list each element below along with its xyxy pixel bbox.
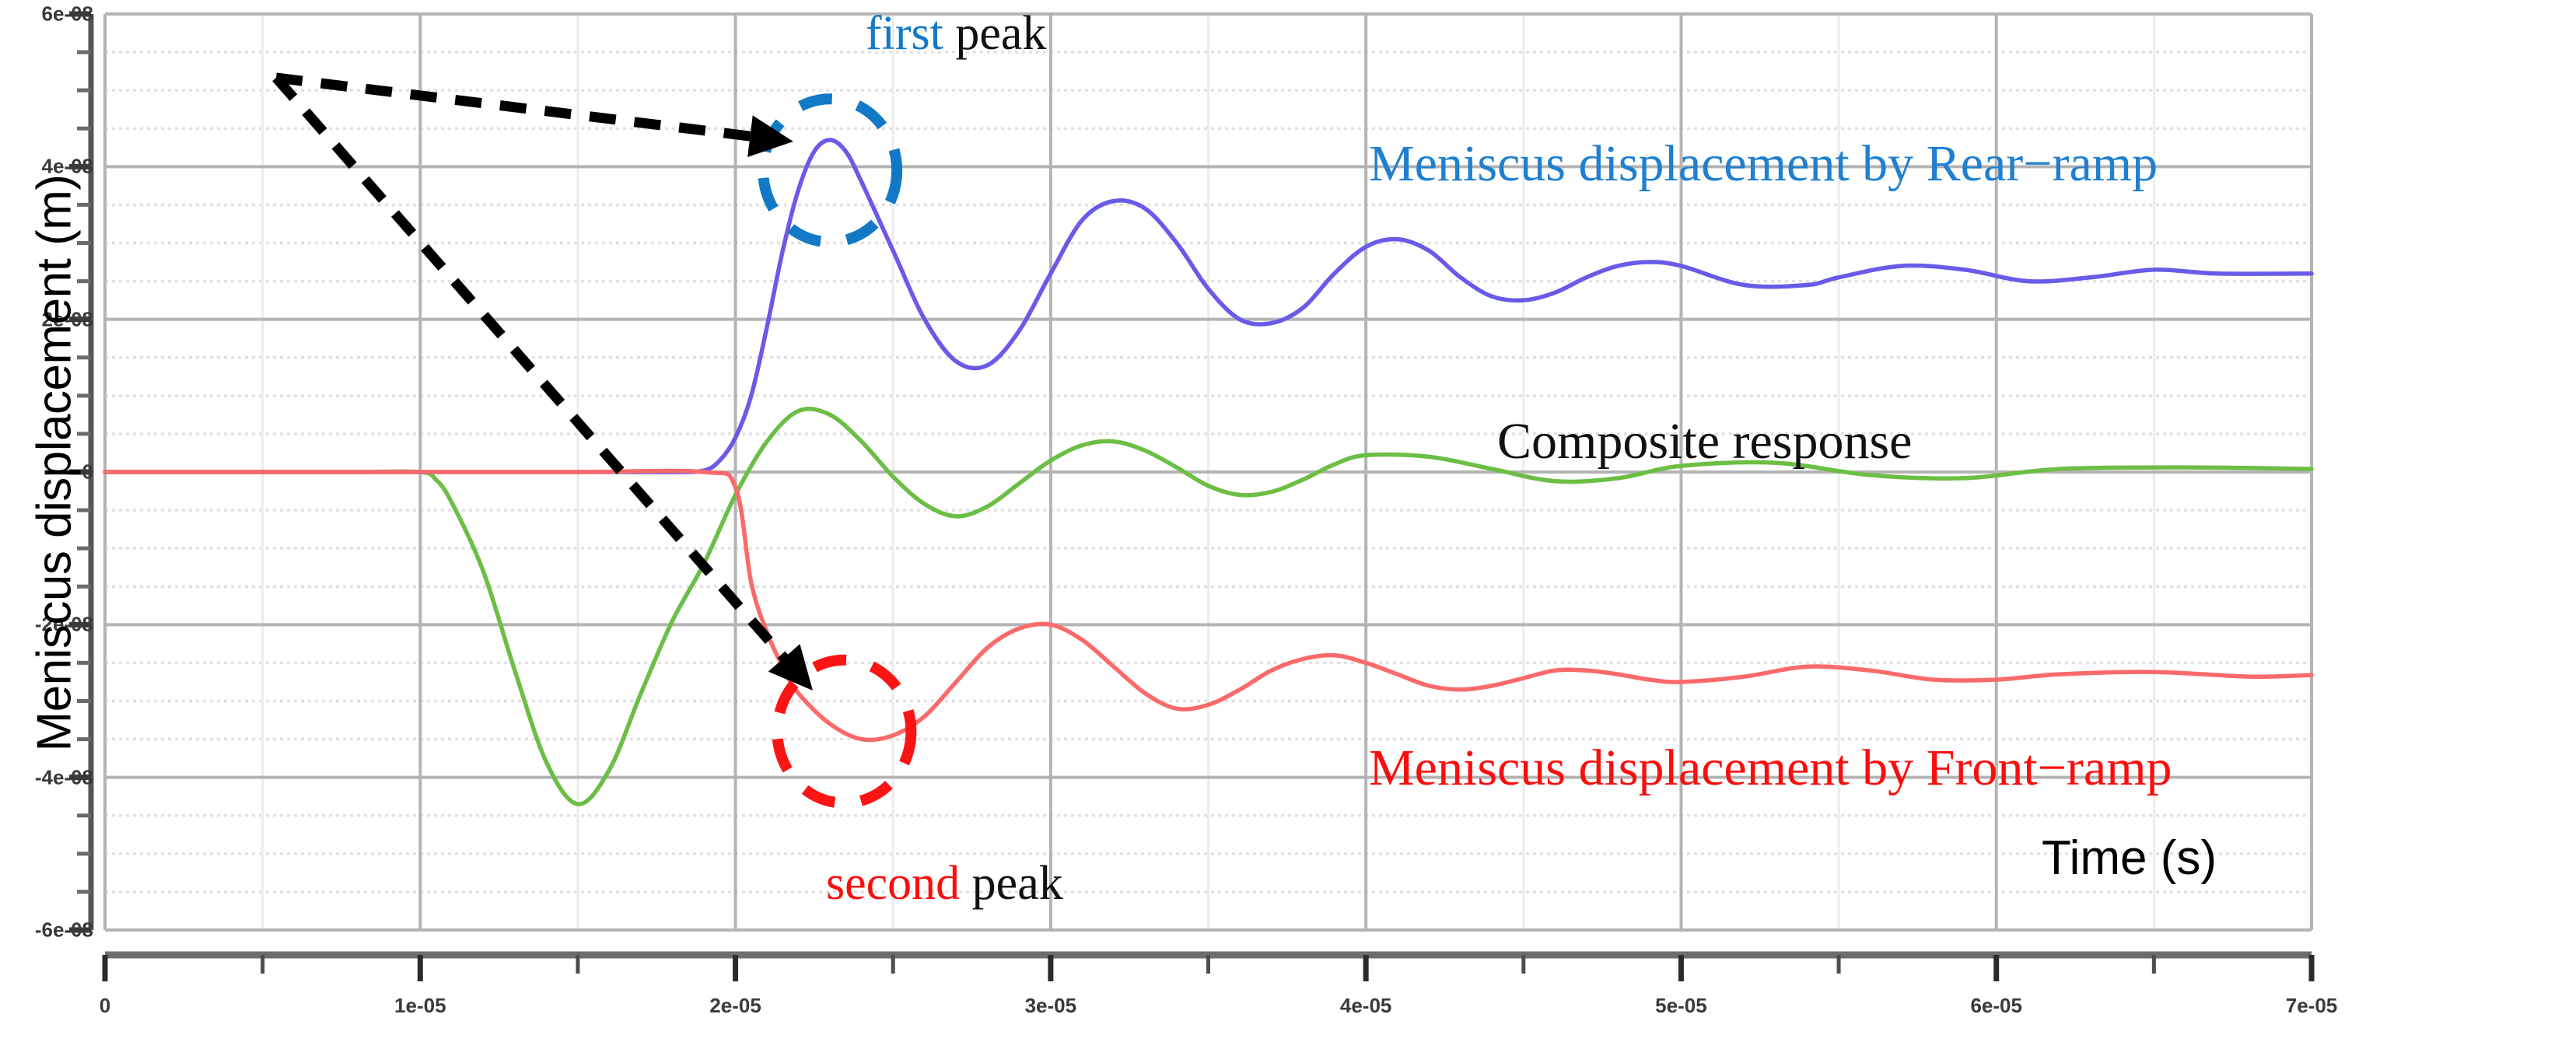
annotation-second-peak-word1: second bbox=[826, 857, 960, 910]
x-tick-label: 1e-05 bbox=[394, 994, 446, 1018]
annotation-second-peak: second peak bbox=[826, 859, 1063, 907]
chart-figure bbox=[0, 0, 2576, 1052]
chart-canvas bbox=[0, 0, 2576, 1052]
series-label-composite: Composite response bbox=[1497, 416, 1912, 467]
x-tick-label: 5e-05 bbox=[1655, 994, 1707, 1018]
x-tick-label: 4e-05 bbox=[1340, 994, 1392, 1018]
y-tick-label: 0 bbox=[82, 460, 93, 484]
x-tick-label: 6e-05 bbox=[1970, 994, 2022, 1018]
y-axis-title: Meniscus displacement (m) bbox=[27, 36, 82, 891]
x-tick-label: 0 bbox=[100, 994, 110, 1018]
annotation-first-peak-word2: peak bbox=[955, 7, 1046, 60]
x-axis-title: Time (s) bbox=[2042, 830, 2217, 886]
series-label-rear-ramp: Meniscus displacement by Rear−ramp bbox=[1369, 138, 2158, 190]
x-tick-label: 2e-05 bbox=[709, 994, 761, 1018]
x-tick-label: 7e-05 bbox=[2286, 994, 2338, 1018]
annotation-first-peak-word1: first bbox=[866, 7, 943, 60]
x-tick-label: 3e-05 bbox=[1025, 994, 1077, 1018]
annotation-first-peak: first peak bbox=[866, 9, 1046, 58]
series-label-front-ramp: Meniscus displacement by Front−ramp bbox=[1369, 743, 2172, 794]
y-tick-label: -6e-08 bbox=[35, 918, 93, 942]
y-tick-label: 6e-08 bbox=[42, 2, 94, 26]
annotation-second-peak-word2: peak bbox=[972, 857, 1063, 910]
